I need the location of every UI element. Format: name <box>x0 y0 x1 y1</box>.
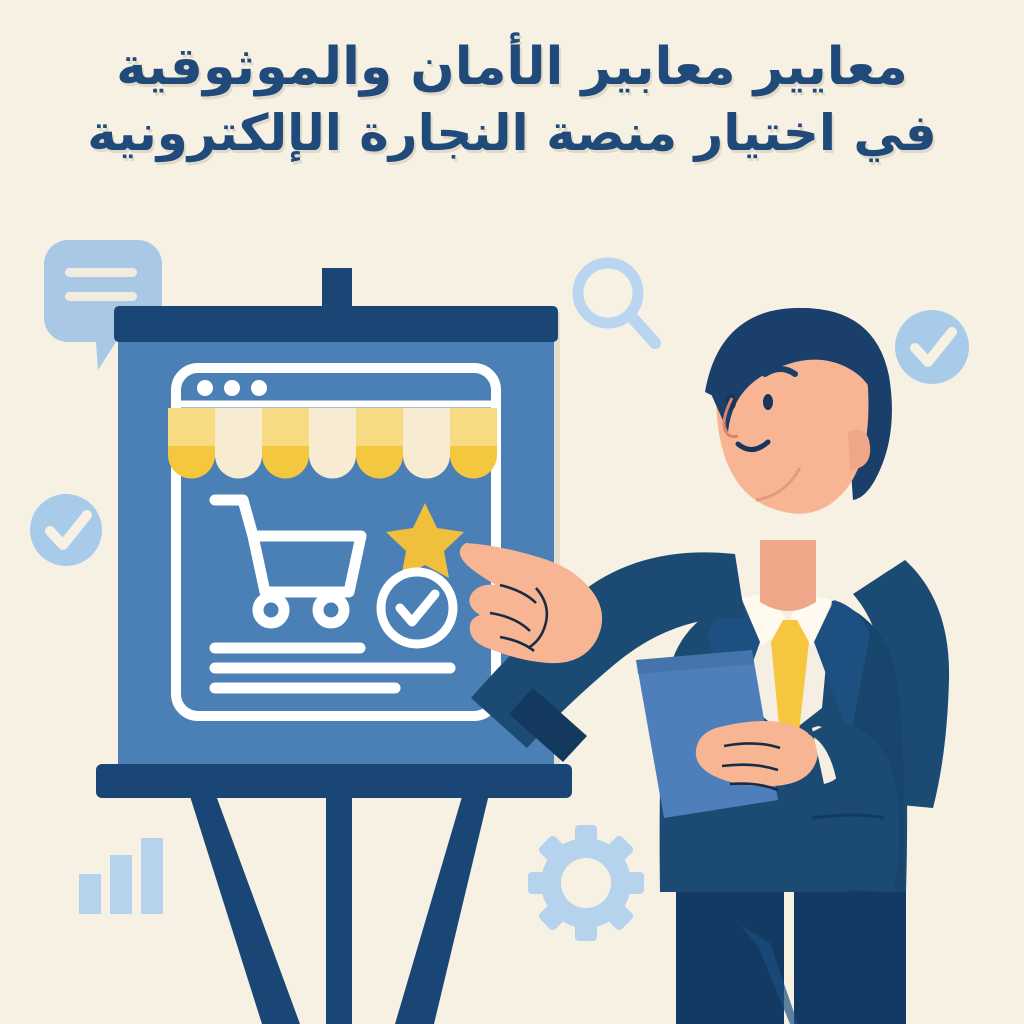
browser-dots <box>197 380 267 396</box>
presenter-neck <box>760 540 816 611</box>
check-circle-icon-left <box>30 494 102 566</box>
illustration-canvas: معايير معابير الأمان والموثوقية في اختيا… <box>0 0 1024 1024</box>
check-circle-icon-right <box>895 310 969 384</box>
gear-icon <box>528 825 644 941</box>
scene-illustration <box>0 0 1024 1024</box>
eye-right <box>763 394 773 410</box>
board-top-rail <box>114 306 558 342</box>
board-tray <box>96 764 572 798</box>
